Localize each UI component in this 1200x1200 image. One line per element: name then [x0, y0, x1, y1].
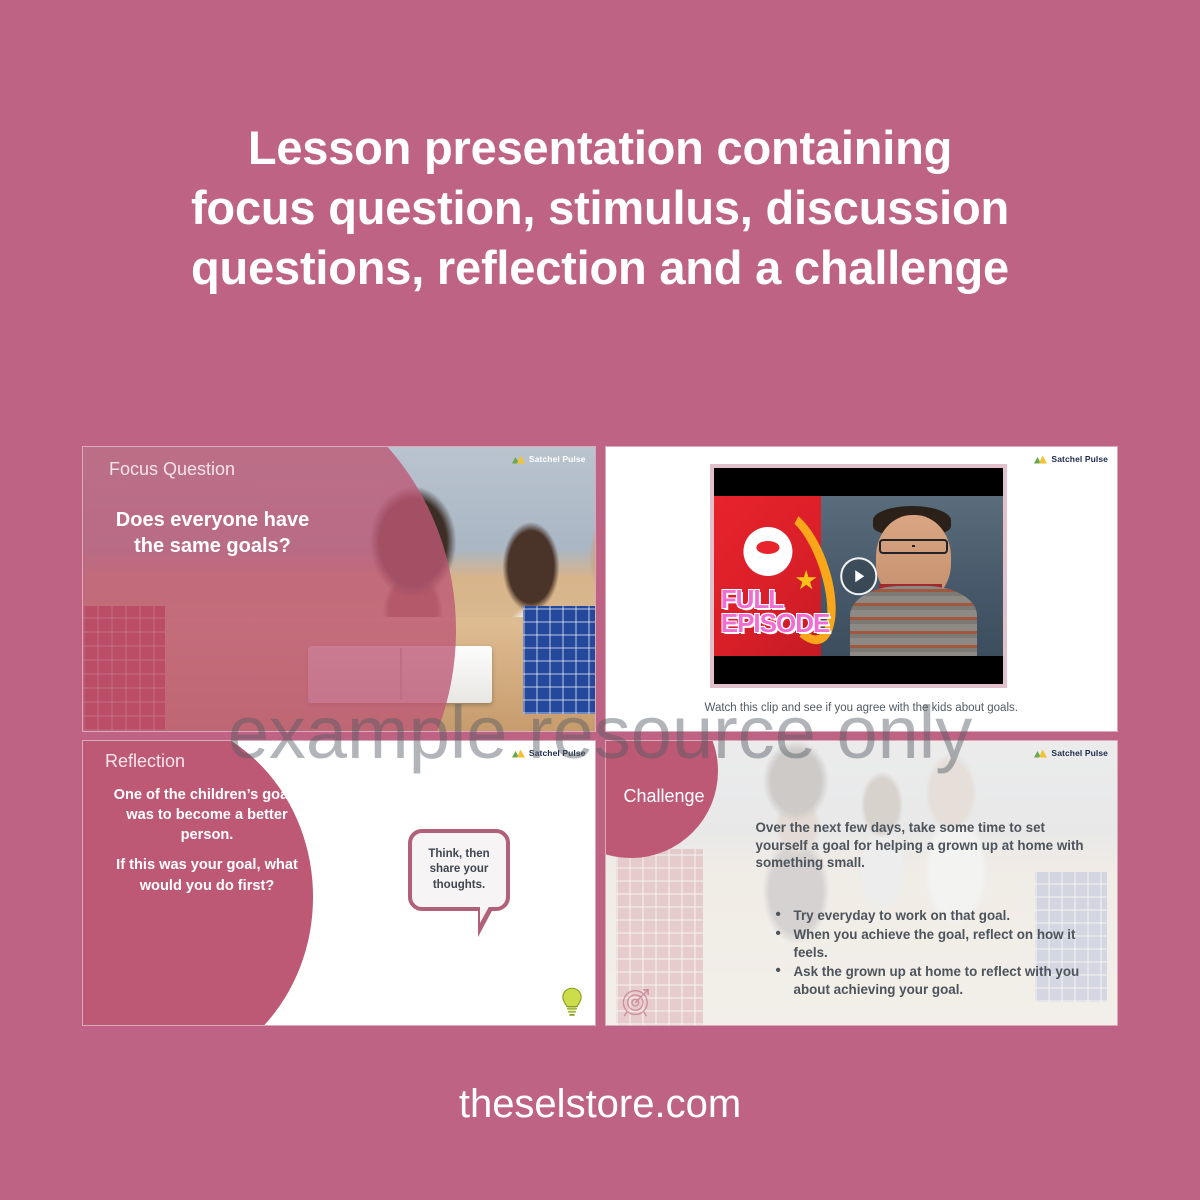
full-episode-text: FULL EPISODE: [721, 588, 815, 636]
plaid-skirt-right: [523, 606, 595, 714]
reflection-paragraph-1: One of the children’s goals was to becom…: [101, 785, 313, 845]
target-icon: [620, 983, 654, 1017]
page-title-line-1: Lesson presentation containing: [90, 118, 1110, 178]
logo-text: Satchel Pulse: [529, 454, 586, 464]
footer-url: theselstore.com: [0, 1082, 1200, 1127]
focus-question-text: Does everyone have the same goals?: [105, 507, 320, 559]
logo-text: Satchel Pulse: [1051, 748, 1108, 758]
full-episode-badge: FULL EPISODE: [714, 496, 821, 656]
page-title-line-2: focus question, stimulus, discussion: [90, 178, 1110, 238]
slide-section-label: Reflection: [105, 751, 185, 772]
logo-text: Satchel Pulse: [529, 748, 586, 758]
page-title: Lesson presentation containing focus que…: [0, 118, 1200, 298]
logo-text: Satchel Pulse: [1051, 454, 1108, 464]
lightbulb-icon: [561, 987, 583, 1017]
mountain-icon: [1034, 455, 1047, 464]
list-item: When you achieve the goal, reflect on ho…: [774, 926, 1104, 961]
speech-bubble-text: Think, then share your thoughts.: [412, 847, 506, 894]
slide-focus-question[interactable]: Focus Question Does everyone have the sa…: [82, 446, 596, 732]
page-title-line-3: questions, reflection and a challenge: [90, 238, 1110, 298]
child-sweater: [850, 586, 977, 656]
satchel-pulse-logo: Satchel Pulse: [512, 748, 586, 758]
speech-bubble-tail: [478, 907, 494, 937]
stimulus-caption: Watch this clip and see if you agree wit…: [606, 702, 1118, 714]
play-icon[interactable]: [840, 557, 878, 595]
slide-stimulus[interactable]: FULL EPISODE Watch this clip and see if …: [605, 446, 1119, 732]
satchel-pulse-logo: Satchel Pulse: [1034, 748, 1108, 758]
mountain-icon: [512, 455, 525, 464]
badge-line-2: EPISODE: [721, 612, 815, 636]
reflection-paragraph-2: If this was your goal, what would you do…: [101, 855, 313, 895]
slide-reflection[interactable]: Reflection One of the children’s goals w…: [82, 740, 596, 1026]
slide-grid: Focus Question Does everyone have the sa…: [82, 446, 1118, 1026]
list-item: Ask the grown up at home to reflect with…: [774, 963, 1104, 998]
slide-section-label: Focus Question: [109, 459, 235, 480]
satchel-pulse-logo: Satchel Pulse: [512, 454, 586, 464]
pink-circle-overlay: [82, 446, 456, 732]
video-still: FULL EPISODE: [714, 496, 1003, 656]
list-item: Try everyday to work on that goal.: [774, 907, 1104, 924]
challenge-lead-text: Over the next few days, take some time t…: [756, 819, 1088, 872]
satchel-pulse-logo: Satchel Pulse: [1034, 454, 1108, 464]
challenge-bullet-list: Try everyday to work on that goal. When …: [774, 907, 1104, 1000]
slide-section-label: Challenge: [624, 786, 705, 807]
slide-challenge[interactable]: Challenge Over the next few days, take s…: [605, 740, 1119, 1026]
speech-bubble: Think, then share your thoughts.: [408, 829, 510, 911]
child-glasses: [879, 539, 948, 553]
mountain-icon: [512, 749, 525, 758]
mountain-icon: [1034, 749, 1047, 758]
video-thumbnail[interactable]: FULL EPISODE: [710, 464, 1007, 688]
reflection-body: One of the children’s goals was to becom…: [101, 785, 313, 896]
